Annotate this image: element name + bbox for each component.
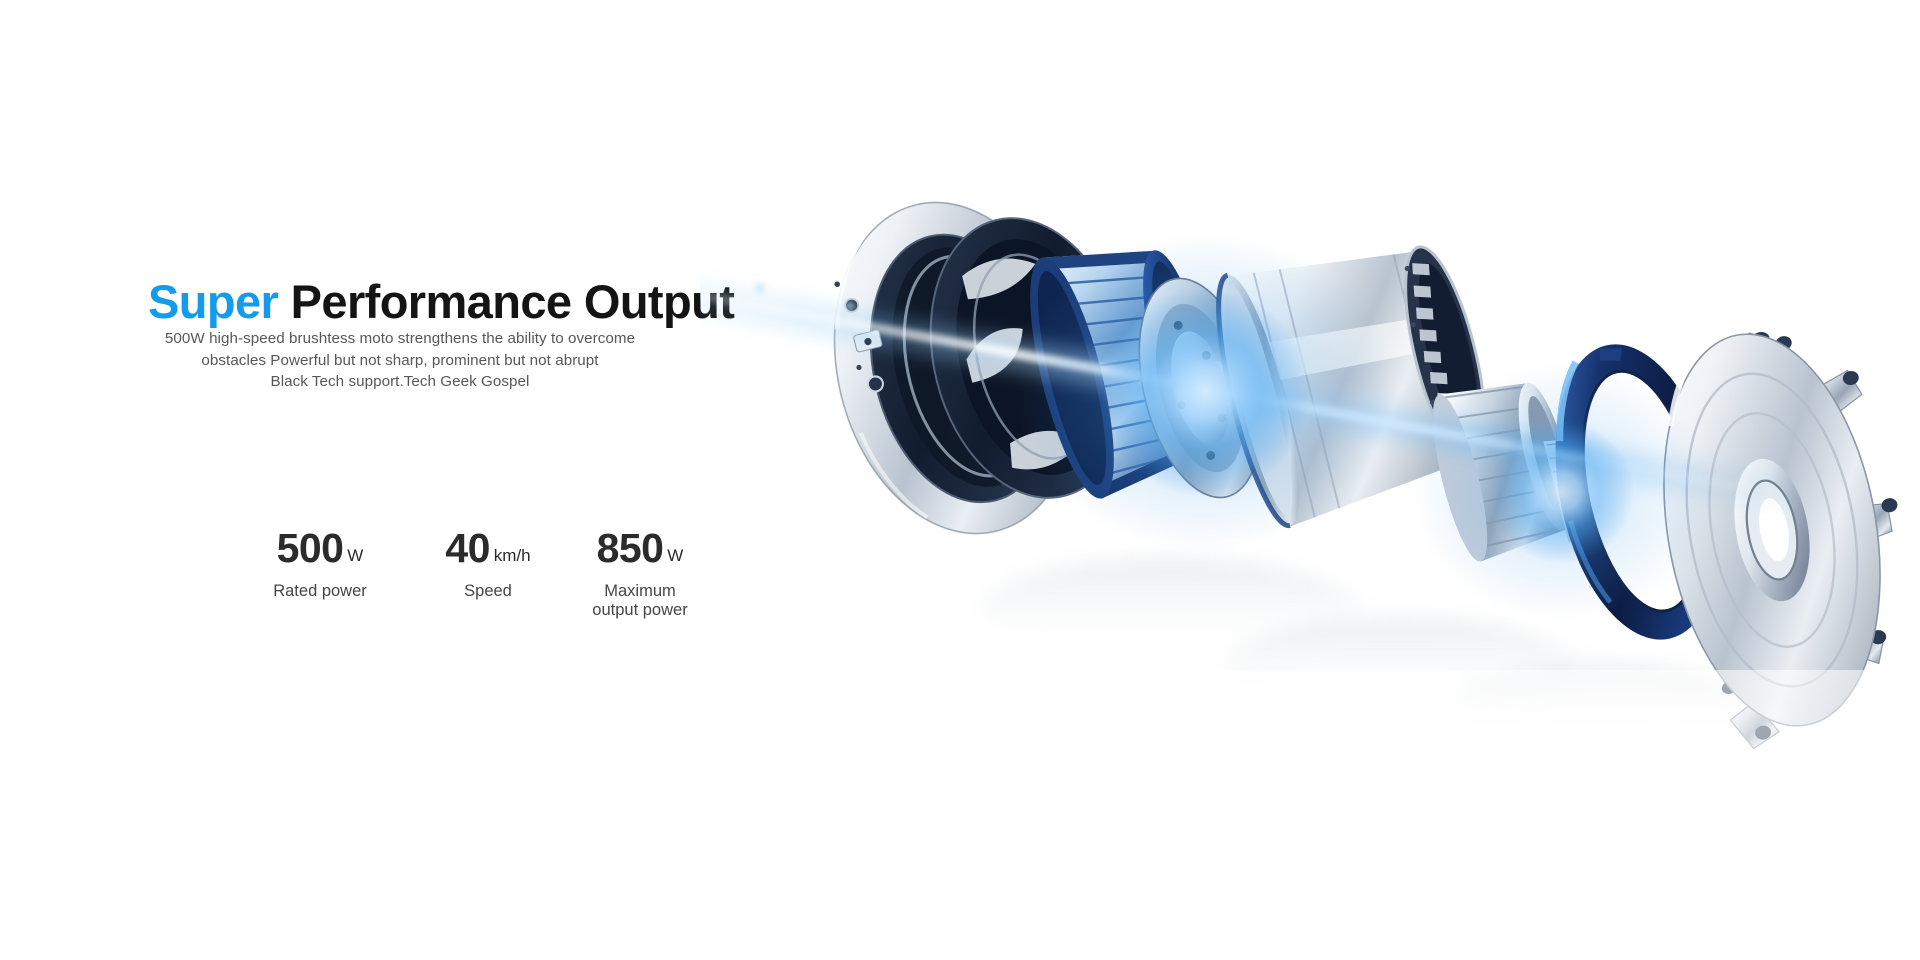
stat-value: 500 (277, 525, 344, 571)
subcopy-line-1: 500W high-speed brushtess moto strengthe… (110, 328, 690, 350)
stat-unit: km/h (494, 546, 531, 565)
text-column: Super Performance Output 500W high-speed… (0, 0, 820, 960)
stat-value-row: 500W (240, 528, 400, 569)
headline-rest: Performance Output (278, 275, 734, 328)
stat-label-line-1: Rated power (240, 582, 400, 601)
subcopy-line-2: obstacles Powerful but not sharp, promin… (110, 350, 690, 372)
stat-unit: W (667, 546, 683, 565)
stat-value: 40 (445, 525, 489, 571)
headline-accent-word: Super (148, 275, 278, 328)
exploded-hub-motor-image (700, 110, 1920, 760)
stat-speed: 40km/h Speed (418, 528, 558, 601)
stat-label-line-1: Speed (418, 582, 558, 601)
subcopy-line-3: Black Tech support.Tech Geek Gospel (110, 371, 690, 393)
stat-value-row: 40km/h (418, 528, 558, 569)
promo-banner: Super Performance Output 500W high-speed… (0, 0, 1920, 960)
stat-value: 850 (597, 525, 664, 571)
stat-unit: W (347, 546, 363, 565)
spec-stats-row: 500W Rated power 40km/h Speed 850W (150, 528, 670, 648)
stat-rated-power: 500W Rated power (240, 528, 400, 601)
subcopy: 500W high-speed brushtess moto strengthe… (110, 328, 690, 393)
stat-label: Speed (418, 582, 558, 601)
page-title: Super Performance Output (148, 278, 734, 325)
stat-label: Rated power (240, 582, 400, 601)
